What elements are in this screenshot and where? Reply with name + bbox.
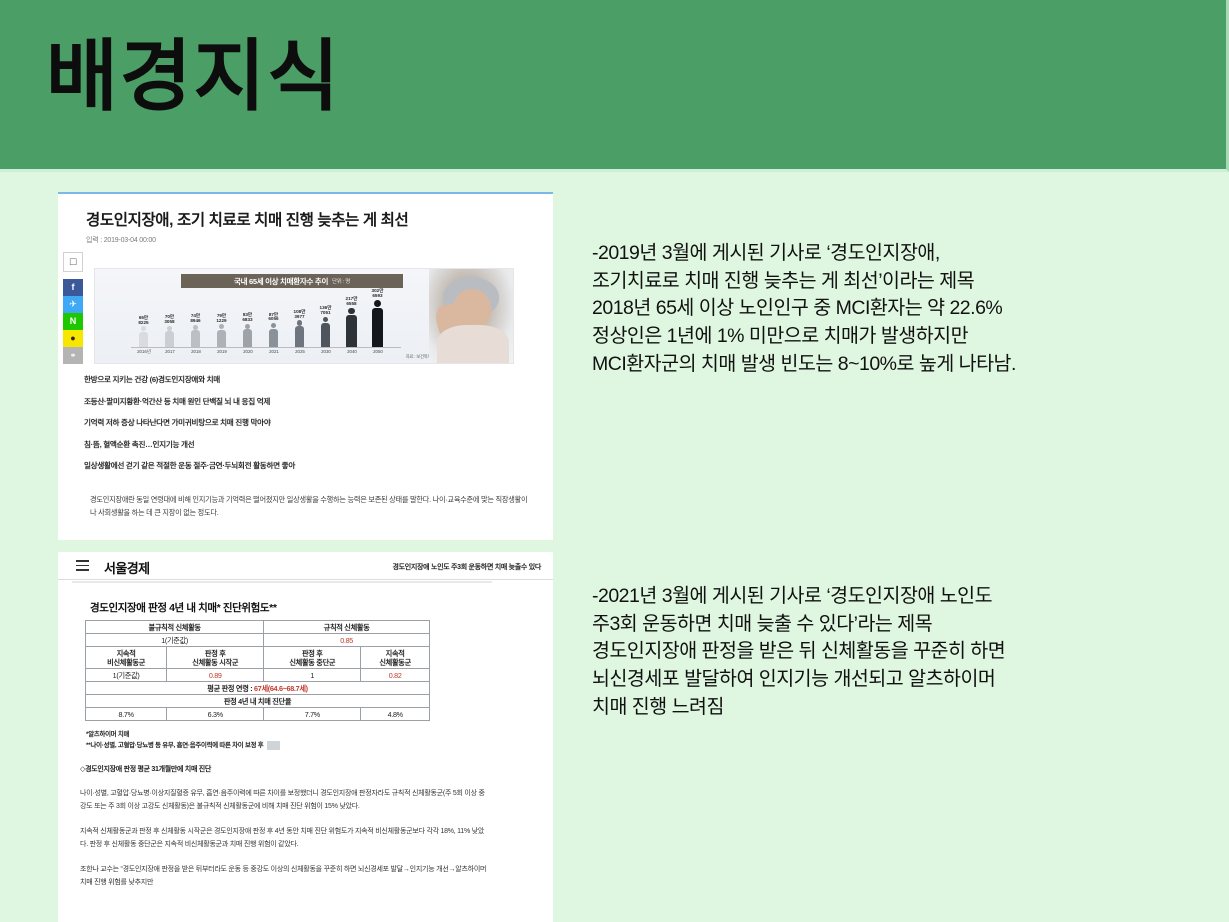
- article2-lead: ◇경도인지장애 판정 평균 31개월만에 치매 진단: [80, 764, 211, 774]
- chart-axis-line: [131, 347, 401, 348]
- slide-title-banner: 배경지식: [0, 0, 1229, 172]
- kakao-icon[interactable]: ●: [63, 330, 83, 347]
- article1-timestamp: 입력 : 2019-03-04 00:00: [86, 235, 156, 245]
- group-header-regular: 규칙적 신체활동: [264, 621, 430, 634]
- chart-x-label: 2016년: [134, 349, 154, 355]
- article1-subheading: 한방으로 지키는 건강 (6)경도인지장애와 치매: [84, 374, 534, 385]
- comment-icon[interactable]: ☐: [63, 252, 83, 272]
- risk-table-rate: 4.8%: [361, 708, 430, 721]
- risk-table-value: 1(기준값): [86, 669, 167, 682]
- table-row-average-age: 평균 판정 연령 : 67세(64.6~68.7세): [86, 682, 430, 695]
- chart-title: 국내 65세 이상 치매환자수 추이: [234, 276, 328, 287]
- rate-header: 판정 4년 내 치매 진단율: [86, 695, 430, 708]
- chart-bar-value-label: 87만6056: [268, 313, 278, 323]
- chart-bar: 136만7051: [317, 306, 334, 347]
- article-screenshot-2: 서울경제 경도인지장애 노인도 주3회 운동하면 치매 늦출수 있다 경도인지장…: [58, 552, 553, 922]
- naver-icon[interactable]: N: [63, 313, 83, 330]
- chart-bar-value-label: 74만8946: [190, 314, 200, 324]
- article2-headline: 경도인지장애 노인도 주3회 운동하면 치매 늦출수 있다: [392, 562, 541, 572]
- group-value-irregular: 1(기준값): [86, 634, 264, 647]
- chart-bar: 217만6558: [343, 297, 360, 347]
- note-block-1: -2019년 3월에 게시된 기사로 ‘경도인지장애, 조기치료로 치매 진행 …: [592, 240, 1207, 378]
- article2-body-text: 나이·성별, 고혈압·당뇨병·이상지질혈증 유무, 흡연·음주이력에 따른 차이…: [80, 788, 490, 902]
- avg-age-label: 평균 판정 연령: [207, 684, 248, 693]
- chart-x-label: 2040: [342, 349, 362, 354]
- chart-x-label: 2021: [264, 349, 284, 354]
- article2-topbar: 서울경제 경도인지장애 노인도 주3회 운동하면 치매 늦출수 있다: [58, 552, 553, 580]
- table-footnotes: *알츠하이머 치매 **나이·성별, 고혈압·당뇨병 등 유무, 흡연·음주이력…: [86, 730, 280, 751]
- chart-bar-value-label: 79만1229: [216, 314, 226, 324]
- table-row-group-values: 1(기준값) 0.85: [86, 634, 430, 647]
- dementia-patient-trend-chart: 국내 65세 이상 치매환자수 추이 단위 : 명 65만822570만3058…: [94, 268, 514, 364]
- chart-x-tick-labels: 2016년20172018201920202021202520302040205…: [135, 349, 397, 358]
- article2-paragraph: 조한나 교수는 “경도인지장애 판정을 받은 뒤부터라도 운동 등 중강도 이상…: [80, 864, 490, 890]
- risk-table-rate: 8.7%: [86, 708, 167, 721]
- table-row-rates: 8.7%6.3%7.7%4.8%: [86, 708, 430, 721]
- article2-paragraph: 지속적 신체활동군과 판정 후 신체활동 시작군은 경도인지장애 판정 후 4년…: [80, 826, 490, 852]
- twitter-icon[interactable]: ✈: [63, 296, 83, 313]
- article1-subheading: 기억력 저하 증상 나타난다면 가미귀비탕으로 치매 진행 막아야: [84, 417, 534, 428]
- chart-bar-value-label: 70만3058: [164, 315, 174, 325]
- risk-table-column-header: 지속적비신체활동군: [86, 647, 167, 669]
- table-row-group-headers: 불규칙적 신체활동 규칙적 신체활동: [86, 621, 430, 634]
- chart-bar-value-label: 65만8225: [138, 316, 148, 326]
- article1-subheading: 일상생활에선 걷기 같은 적절한 운동 절주·금연·두뇌회전 활동하면 좋아: [84, 460, 534, 471]
- risk-table-title: 경도인지장애 판정 4년 내 치매* 진단위험도**: [90, 600, 277, 615]
- chart-bar: 79만1229: [213, 314, 230, 347]
- chart-x-label: 2019: [212, 349, 232, 354]
- article1-body-text: 경도인지장애란 동일 연령대에 비해 인지기능과 기억력은 떨어졌지만 일상생활…: [90, 494, 530, 519]
- chart-bar: 74만8946: [187, 314, 204, 347]
- risk-table-value: 0.89: [167, 669, 264, 682]
- chart-x-label: 2017: [160, 349, 180, 354]
- footnote-2: **나이·성별, 고혈압·당뇨병 등 유무, 흡연·음주이력에 따른 차이 보정…: [86, 742, 263, 749]
- chart-bar-value-label: 108만3977: [294, 310, 306, 320]
- chart-bar: 65만8225: [135, 316, 152, 347]
- chart-bar: 108만3977: [291, 310, 308, 347]
- expand-icon[interactable]: [267, 741, 280, 750]
- chart-bar-value-label: 83만6833: [242, 313, 252, 323]
- chart-title-ribbon: 국내 65세 이상 치매환자수 추이 단위 : 명: [181, 274, 403, 288]
- chart-bar: 302만6593: [369, 289, 386, 347]
- risk-table-column-header: 지속적신체활동군: [361, 647, 430, 669]
- photo-body: [437, 325, 509, 364]
- chart-bar-value-label: 217만6558: [346, 297, 358, 307]
- screenshot-fade: [58, 900, 553, 922]
- note-block-2: -2021년 3월에 게시된 기사로 ‘경도인지장애 노인도 주3회 운동하면 …: [592, 583, 1207, 721]
- risk-table-rate: 6.3%: [167, 708, 264, 721]
- avg-age-value: 67세(64.6~68.7세): [254, 684, 308, 693]
- footnote-1: *알츠하이머 치매: [86, 730, 280, 741]
- chart-bars: 65만822570만305874만894679만122983만683387만60…: [135, 289, 397, 347]
- article1-subheading: 침·뜸, 혈액순환 촉진…인지기능 개선: [84, 439, 534, 450]
- table-row-risk-values: 1(기준값)0.8910.82: [86, 669, 430, 682]
- chart-x-label: 2025: [290, 349, 310, 354]
- risk-table-value: 0.82: [361, 669, 430, 682]
- risk-table-value: 1: [264, 669, 361, 682]
- risk-table-column-header: 판정 후신체활동 중단군: [264, 647, 361, 669]
- chart-unit: 단위 : 명: [332, 277, 350, 285]
- article2-paragraph: 나이·성별, 고혈압·당뇨병·이상지질혈증 유무, 흡연·음주이력에 따른 차이…: [80, 788, 490, 814]
- link-icon[interactable]: ⚭: [63, 347, 83, 364]
- chart-x-label: 2018: [186, 349, 206, 354]
- group-value-regular: 0.85: [264, 634, 430, 647]
- chart-x-label: 2050: [368, 349, 388, 354]
- elderly-woman-photo: [429, 269, 513, 364]
- chart-bar: 87만6056: [265, 313, 282, 347]
- chart-bar: 83만6833: [239, 313, 256, 347]
- page-title: 배경지식: [46, 38, 341, 116]
- article1-subheadings: 한방으로 지키는 건강 (6)경도인지장애와 치매조등산·팔미지황환·억간산 등…: [84, 374, 534, 482]
- article1-subheading: 조등산·팔미지황환·억간산 등 치매 원인 단백질 뇌 내 응집 억제: [84, 396, 534, 407]
- group-header-irregular: 불규칙적 신체활동: [86, 621, 264, 634]
- facebook-icon[interactable]: f: [63, 279, 83, 296]
- risk-table-rate: 7.7%: [264, 708, 361, 721]
- chart-x-label: 2020: [238, 349, 258, 354]
- chart-bar-value-label: 302만6593: [372, 289, 384, 299]
- chart-bar-value-label: 136만7051: [320, 306, 332, 316]
- divider: [72, 581, 492, 583]
- risk-table: 불규칙적 신체활동 규칙적 신체활동 1(기준값) 0.85 지속적비신체활동군…: [85, 620, 430, 721]
- chart-x-label: 2030: [316, 349, 336, 354]
- article-screenshot-1: 경도인지장애, 조기 치료로 치매 진행 늦추는 게 최선 입력 : 2019-…: [58, 192, 553, 540]
- table-row-column-headers: 지속적비신체활동군판정 후신체활동 시작군판정 후신체활동 중단군지속적신체활동…: [86, 647, 430, 669]
- publisher-logo[interactable]: 서울경제: [104, 558, 149, 577]
- chart-bar: 70만3058: [161, 315, 178, 347]
- table-row-rate-header: 판정 4년 내 치매 진단율: [86, 695, 430, 708]
- hamburger-menu-icon[interactable]: [76, 560, 89, 571]
- article1-headline: 경도인지장애, 조기 치료로 치매 진행 늦추는 게 최선: [86, 208, 526, 230]
- article1-share-sidebar: ☐ f ✈ N ● ⚭: [63, 252, 87, 364]
- risk-table-column-header: 판정 후신체활동 시작군: [167, 647, 264, 669]
